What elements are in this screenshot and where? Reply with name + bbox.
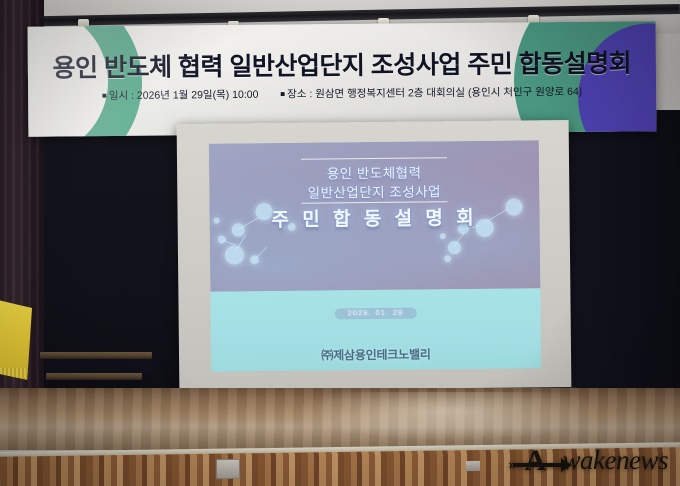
- banner-datetime: 일시 : 2026년 1월 29일(목) 10:00: [109, 89, 259, 102]
- awakenews-watermark: » A wakenews: [511, 445, 668, 476]
- banner-venue: 장소 : 원삼면 행정복지센터 2층 대회의실 (용인시 처인구 원양로 64): [287, 86, 582, 101]
- banner-title: 용인 반도체 협력 일반산업단지 조성사업 주민 합동설명회: [28, 43, 656, 84]
- bullet-square-icon: ■: [102, 91, 107, 100]
- slide-company-name: ㈜제삼용인테크노밸리: [211, 344, 541, 364]
- floor-reflection: [300, 392, 600, 440]
- arrow-head-icon: [561, 458, 572, 472]
- bullet-square-icon: ■: [280, 89, 285, 98]
- projected-slide: 용인 반도체협력 일반산업단지 조성사업 주 민 합 동 설 명 회 2026.…: [209, 140, 541, 371]
- floor-outlet-icon: [466, 461, 480, 471]
- slide-line-2: 일반산업단지 조성사업: [209, 179, 539, 202]
- slide-date-badge: 2026. 01. 29: [335, 308, 417, 320]
- ceremonial-flag: [0, 300, 32, 380]
- stage-step: [40, 352, 152, 359]
- slide-line-3: 주 민 합 동 설 명 회: [209, 202, 539, 232]
- chevrons-icon: »: [509, 458, 516, 471]
- stage-step: [46, 373, 142, 380]
- watermark-word: wakenews: [563, 445, 668, 476]
- floor-vent-icon: [216, 459, 240, 479]
- photo-canvas: 용인 반도체 협력 일반산업단지 조성사업 주민 합동설명회 ■일시 : 202…: [0, 0, 680, 486]
- arrow-icon: » A: [511, 448, 569, 474]
- stage-step-riser: [46, 359, 152, 373]
- watermark-letter: A: [525, 446, 547, 476]
- projection-screen: 용인 반도체협력 일반산업단지 조성사업 주 민 합 동 설 명 회 2026.…: [177, 120, 572, 392]
